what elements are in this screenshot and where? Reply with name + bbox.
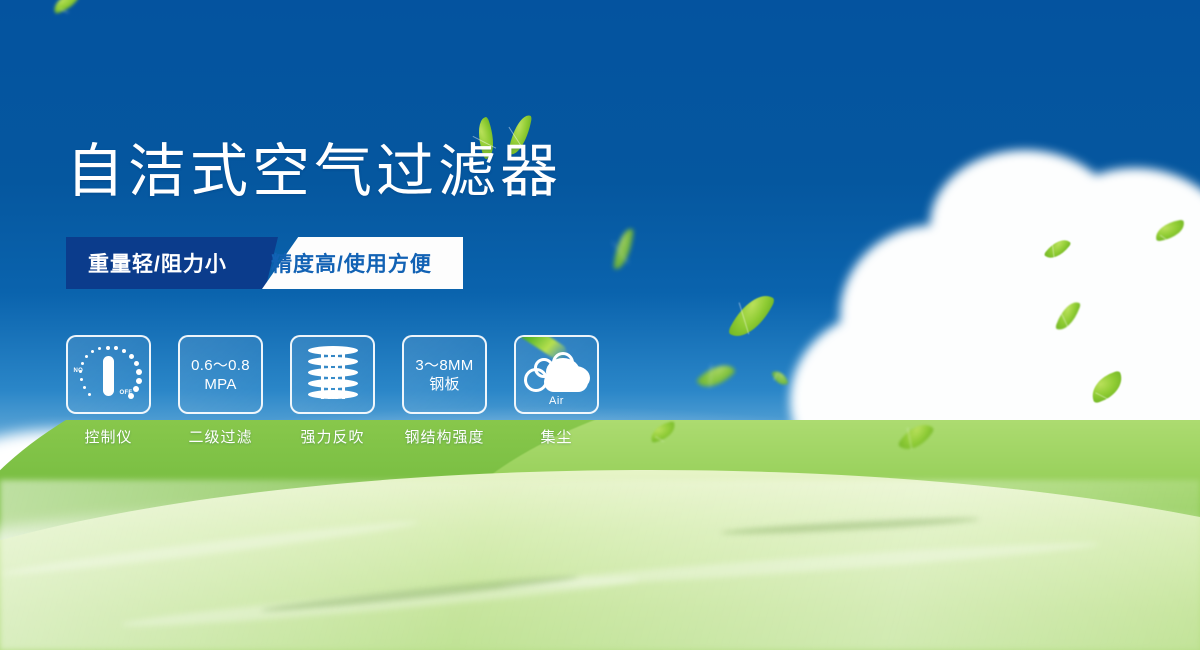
gauge-label-no: NO [74,368,84,374]
feature-item-blowback[interactable]: 强力反吹 [290,335,375,447]
steel-plate-text-icon: 3～8MM 钢板 [415,356,473,394]
page-title: 自洁式空气过滤器 [66,143,562,201]
steel-line2: 钢板 [415,375,473,394]
feature-label: 二级过滤 [188,426,252,447]
feature-icon-box: 0.6～0.8 MPA [178,335,263,414]
gauge-label-off: OFF [120,390,133,396]
pressure-line2: MPA [191,375,250,394]
feature-item-steel[interactable]: 3～8MM 钢板 钢结构强度 [402,335,487,447]
steel-line1: 3～8MM [415,356,473,375]
feature-label: 控制仪 [84,426,132,447]
feature-icon-box: Air [514,335,599,414]
feature-label: 集尘 [540,426,572,447]
filter-coil-icon [308,346,358,404]
feature-label: 强力反吹 [300,426,364,447]
product-hero-banner: 自洁式空气过滤器 重量轻/阻力小 精度高/使用方便 [0,0,1200,650]
feature-icon-list: NO OFF 控制仪 0.6～0.8 MPA 二级过滤 [66,335,599,447]
feature-item-pressure[interactable]: 0.6～0.8 MPA 二级过滤 [178,335,263,447]
feature-icon-box [290,335,375,414]
subtitle-right-text: 精度高/使用方便 [271,237,432,289]
feature-item-controller[interactable]: NO OFF 控制仪 [66,335,151,447]
gauge-needle [103,356,114,396]
pressure-line1: 0.6～0.8 [191,356,250,375]
feature-item-dust[interactable]: Air 集尘 [514,335,599,447]
subtitle-left-text: 重量轻/阻力小 [88,237,227,289]
air-label: Air [522,395,592,407]
feature-icon-box: NO OFF [66,335,151,414]
grass-field [0,420,1200,650]
gauge-icon: NO OFF [76,344,142,406]
pressure-text-icon: 0.6～0.8 MPA [191,356,250,394]
feature-label: 钢结构强度 [404,426,484,447]
feature-icon-box: 3～8MM 钢板 [402,335,487,414]
air-cloud-icon: Air [522,344,592,406]
subtitle-bar: 重量轻/阻力小 精度高/使用方便 [66,237,463,289]
